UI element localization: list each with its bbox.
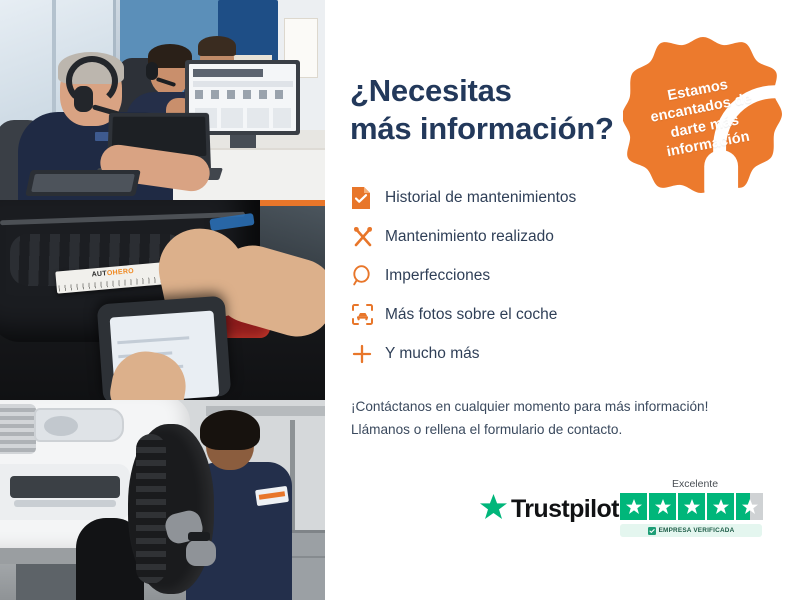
feature-label: Y mucho más [385,345,479,363]
trustpilot-logo[interactable]: Trustpilot [480,494,619,525]
content-panel: ¿Necesitas más información? Estamos enca… [325,0,799,600]
trustpilot-star-icon [480,494,507,525]
title-line-2: más información? [350,111,614,146]
trustpilot-rating: Excelente [620,478,770,537]
verified-check-icon [648,522,656,540]
paragraph-line-2: Llámanos o rellena el formulario de cont… [351,418,771,441]
rating-label: Excelente [620,478,770,490]
photo-column: AUTOHERO [0,0,325,600]
document-check-icon [351,186,385,210]
feature-item-mantenimiento: Mantenimiento realizado [351,217,681,256]
star-3 [678,493,705,520]
car-focus-icon [351,303,385,326]
magnifier-icon [351,265,385,287]
star-1 [620,493,647,520]
title-line-1: ¿Necesitas [350,73,512,108]
paragraph-line-1: ¡Contáctanos en cualquier momento para m… [351,395,771,418]
feature-label: Imperfecciones [385,267,490,285]
star-rating [620,493,770,520]
car-inspection-photo: AUTOHERO [0,200,325,400]
promo-badge: Estamos encantados de darte más informac… [623,33,783,193]
feature-label: Historial de mantenimientos [385,189,576,207]
feature-item-imperfecciones: Imperfecciones [351,256,681,295]
feature-label: Más fotos sobre el coche [385,306,557,324]
star-5-half [736,493,763,520]
feature-item-historial: Historial de mantenimientos [351,178,681,217]
verified-label: EMPRESA VERIFICADA [659,527,735,534]
plus-icon [351,343,385,365]
feature-label: Mantenimiento realizado [385,228,554,246]
trustpilot-wordmark: Trustpilot [511,495,619,524]
contact-paragraph: ¡Contáctanos en cualquier momento para m… [351,395,771,442]
status-badge: EMPRESA VERIFICADA [620,524,762,537]
star-2 [649,493,676,520]
workshop-wheel-photo [0,400,325,600]
feature-list: Historial de mantenimientos Mantenimient… [351,178,681,373]
tools-cross-icon [351,225,385,249]
page-title: ¿Necesitas más información? [350,72,640,148]
trustpilot-widget[interactable]: Trustpilot Excelente [480,478,780,548]
call-center-agents-photo [0,0,325,200]
promo-banner: AUTOHERO [0,0,799,600]
feature-item-mucho-mas: Y mucho más [351,334,681,373]
star-4 [707,493,734,520]
feature-item-fotos: Más fotos sobre el coche [351,295,681,334]
